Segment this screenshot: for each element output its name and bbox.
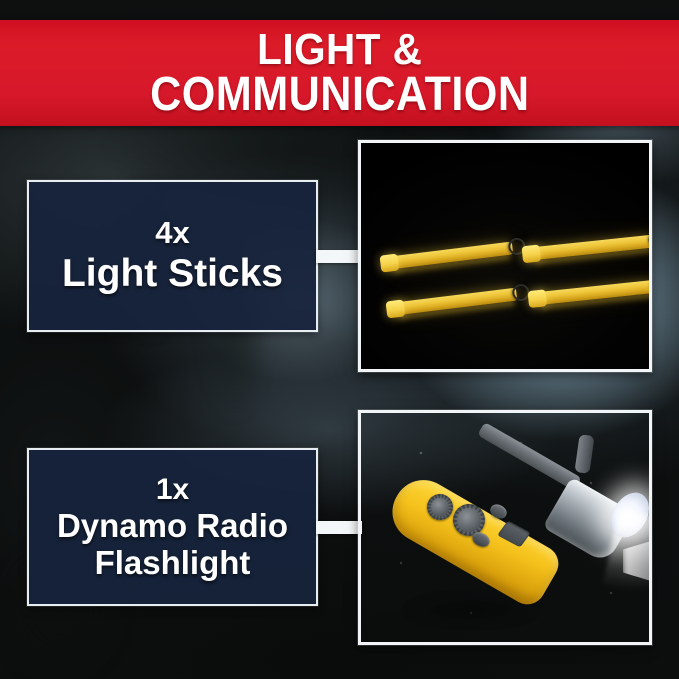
light-stick-ring-icon bbox=[648, 230, 652, 249]
light-stick-3 bbox=[531, 235, 652, 261]
light-sticks-name: Light Sticks bbox=[62, 253, 283, 296]
light-stick-reflection bbox=[394, 255, 510, 276]
light-stick-reflection bbox=[536, 248, 650, 267]
callout-box-light-sticks: 4x Light Sticks bbox=[27, 180, 318, 332]
flashlight-crank-tip bbox=[574, 434, 594, 474]
header-title-line-2: COMMUNICATION bbox=[150, 71, 529, 118]
light-stick-1 bbox=[389, 241, 514, 269]
callout-box-dynamo-radio-flashlight: 1x Dynamo Radio Flashlight bbox=[27, 448, 318, 606]
flashlight-crank-handle bbox=[477, 422, 581, 491]
flashlight-quantity: 1x bbox=[156, 473, 189, 506]
flashlight-name-line-1: Dynamo Radio bbox=[57, 508, 288, 544]
flashlight-illustration bbox=[361, 413, 649, 642]
light-stick-ring-icon bbox=[650, 276, 652, 295]
light-stick-2 bbox=[395, 288, 518, 316]
header-banner: LIGHT & COMMUNICATION bbox=[0, 20, 679, 126]
flashlight-name-line-2: Flashlight bbox=[95, 545, 251, 581]
product-photo-light-sticks bbox=[358, 140, 652, 372]
connector-bar-light-sticks bbox=[316, 250, 362, 263]
connector-bar-flashlight bbox=[316, 521, 362, 534]
light-stick-reflection bbox=[542, 293, 652, 311]
header-title-line-1: LIGHT & bbox=[257, 28, 422, 71]
light-stick-reflection bbox=[400, 301, 514, 322]
light-sticks-quantity: 4x bbox=[155, 216, 189, 250]
flashlight-dial-1 bbox=[427, 494, 453, 520]
infographic-page: LIGHT & COMMUNICATION 4x Light Sticks bbox=[0, 0, 679, 679]
light-stick-4 bbox=[537, 280, 652, 305]
product-photo-dynamo-radio-flashlight bbox=[358, 410, 652, 645]
